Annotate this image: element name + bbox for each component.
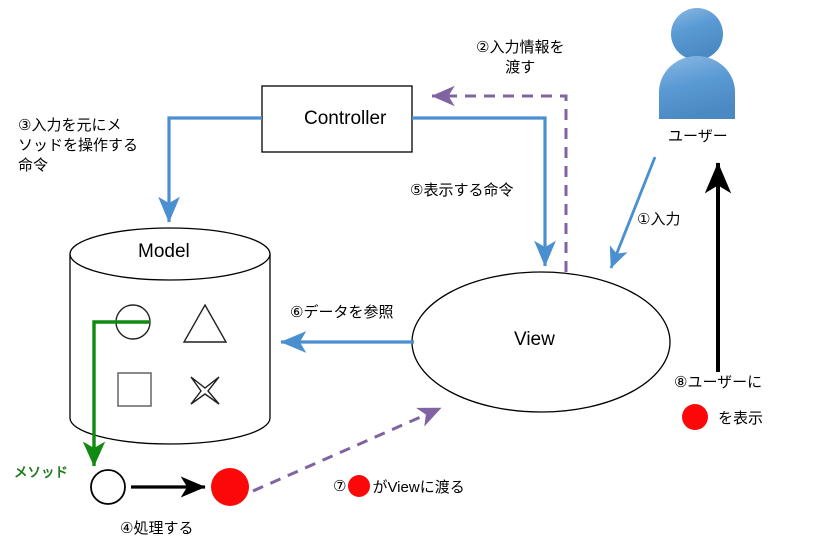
step3-label: ③入力を元にメ ソッドを操作する 命令 xyxy=(18,116,138,175)
user-icon xyxy=(659,8,735,119)
step6-label: ⑥データを参照 xyxy=(290,303,393,323)
step1-label: ①入力 xyxy=(637,210,680,230)
step8-label-line2: を表示 xyxy=(680,404,763,430)
arrow-method-green xyxy=(94,322,150,466)
arrow-controller-to-model xyxy=(169,118,262,222)
red-ball-inline-step8 xyxy=(682,404,708,430)
step5-label: ⑤表示する命令 xyxy=(410,181,513,201)
model-label: Model xyxy=(138,241,190,263)
method-label: メソッド xyxy=(14,464,68,482)
diagram-canvas: Controller Model View ユーザー ①入力 ②入力情報を 渡す… xyxy=(0,0,819,552)
step7-label: ⑦ がViewに渡る xyxy=(333,475,465,497)
model-shape-triangle xyxy=(184,305,226,342)
model-shape-circle xyxy=(116,305,150,339)
step2-label: ②入力情報を 渡す xyxy=(476,38,564,78)
model-shape-square xyxy=(118,373,151,406)
user-label: ユーザー xyxy=(668,127,728,147)
model-shape-four-point-star xyxy=(191,377,219,404)
diagram-vector-layer xyxy=(0,0,819,552)
data-ball-red xyxy=(211,468,249,506)
controller-label: Controller xyxy=(304,108,386,130)
data-ball-white xyxy=(91,470,125,504)
step7-number: ⑦ xyxy=(333,477,346,495)
step8-label-line1: ⑧ユーザーに xyxy=(674,373,762,393)
red-ball-inline-step7 xyxy=(348,475,370,497)
step7-text: がViewに渡る xyxy=(372,476,464,497)
step4-label: ④処理する xyxy=(120,519,193,539)
view-label: View xyxy=(514,329,555,351)
step8-text: を表示 xyxy=(718,407,763,428)
